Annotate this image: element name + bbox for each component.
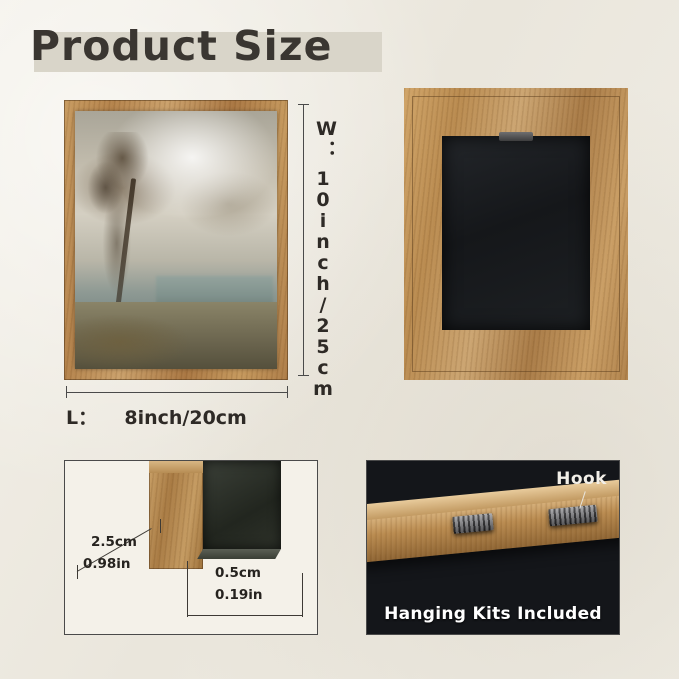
- depth-inch-label: 0.98in: [83, 556, 131, 572]
- product-size-infographic: Product Size W： 10inch/25cm L： 8inch/20c…: [0, 0, 679, 679]
- artwork-side-edge: [197, 549, 281, 559]
- frame-edge-wood: [149, 461, 203, 569]
- page-title-block: Product Size: [22, 18, 392, 78]
- painting-artwork: [75, 111, 277, 369]
- framed-painting-front: [64, 100, 288, 380]
- length-value-label: 8inch/20cm: [124, 407, 247, 429]
- length-dimension-rule: [66, 386, 288, 398]
- border-dimension-cap-left: [187, 561, 188, 617]
- dimension-cap-bottom: [298, 375, 309, 376]
- dimension-line-horizontal: [66, 392, 288, 393]
- depth-dimension-cap-left: [77, 565, 78, 579]
- frame-edge-top-highlight: [149, 461, 203, 473]
- width-label: W：: [312, 118, 340, 164]
- border-dimension-cap-right: [302, 573, 303, 617]
- artwork-dark-surface: [203, 461, 281, 549]
- border-cm-label: 0.5cm: [215, 565, 261, 581]
- painting-ground: [75, 302, 277, 369]
- width-label-text: W：: [316, 118, 337, 159]
- hanging-hardware-detail: Hook Hanging Kits Included: [366, 460, 620, 635]
- depth-dimension-cap-right: [160, 519, 161, 533]
- length-label-row: L： 8inch/20cm: [66, 403, 247, 430]
- frame-thickness-detail: 2.5cm 0.98in 0.5cm 0.19in: [64, 460, 318, 635]
- dimension-line-vertical: [303, 104, 304, 376]
- border-dimension-line: [187, 615, 303, 616]
- dimension-cap-top: [298, 104, 309, 105]
- page-title: Product Size: [30, 22, 332, 70]
- dimension-cap-right: [287, 386, 288, 398]
- hook-callout-label: Hook: [556, 469, 607, 489]
- border-inch-label: 0.19in: [215, 587, 263, 603]
- wood-grain-texture-edge: [149, 461, 203, 569]
- dimension-cap-left: [66, 386, 67, 398]
- depth-cm-label: 2.5cm: [91, 534, 137, 550]
- frame-backing-board: [442, 136, 590, 330]
- length-label-text: L：: [66, 407, 97, 429]
- height-dimension-rule: [298, 104, 310, 376]
- height-value-label: 10inch/25cm: [312, 168, 334, 399]
- hanging-kits-banner: Hanging Kits Included: [367, 604, 619, 624]
- framed-back-view: [404, 88, 628, 380]
- frame-hanging-clip: [499, 132, 533, 141]
